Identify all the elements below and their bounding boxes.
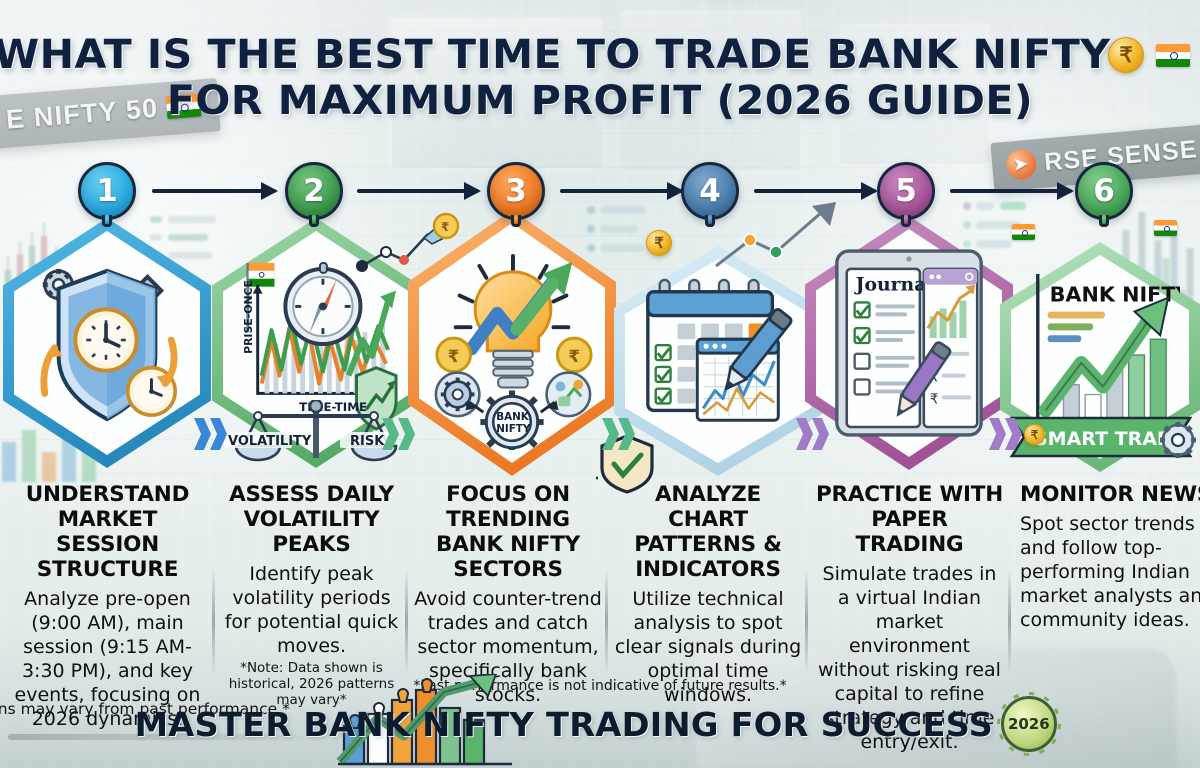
step3-gear-label-line1: BANK bbox=[496, 411, 530, 423]
step-number-1: 1 bbox=[78, 162, 136, 220]
tablet-journal-checklist-icon: Journal bbox=[825, 242, 993, 444]
journal-title: Journal bbox=[854, 274, 934, 296]
step-number-3: 3 bbox=[487, 162, 545, 220]
caption-divider bbox=[1008, 568, 1011, 674]
caption-heading-2: ASSESS DAILY VOLATILITY PEAKS bbox=[221, 482, 402, 557]
caption-heading-5: PRACTICE WITH PAPER TRADING bbox=[814, 482, 1005, 557]
rupee-coin-icon: ₹ bbox=[1108, 37, 1144, 73]
step3-gear-label-line2: NIFTY bbox=[496, 423, 531, 435]
svg-text:₹: ₹ bbox=[448, 346, 460, 366]
chevron-separator-2 bbox=[381, 410, 425, 458]
india-flag-icon bbox=[1012, 224, 1035, 240]
infographic-canvas: E NIFTY 50 ➤ RSE SENSE WHAT IS THE BEST … bbox=[0, 0, 1200, 768]
footer-banner-text: MASTER BANK NIFTY TRADING FOR SUCCESS bbox=[135, 705, 993, 744]
flow-arrow-1-2 bbox=[152, 189, 276, 193]
chevron-separator-4 bbox=[795, 410, 839, 458]
caption-heading-4: ANALYZE CHART PATTERNS & INDICATORS bbox=[614, 482, 802, 582]
scale-label-volatility: VOLATILITY bbox=[228, 434, 312, 449]
svg-text:₹: ₹ bbox=[568, 346, 580, 366]
step-number-4: 4 bbox=[681, 162, 739, 220]
caption-heading-1: UNDERSTAND MARKET SESSION STRUCTURE bbox=[6, 482, 209, 582]
caption-heading-6: MONITOR NEWS & FOLLOW LEADERS bbox=[1020, 482, 1200, 507]
svg-text:₹: ₹ bbox=[930, 391, 939, 407]
caption-divider bbox=[405, 568, 408, 674]
flow-arrow-2-3 bbox=[357, 189, 479, 193]
shield-clock-gears-icon bbox=[23, 244, 191, 442]
year-badge-2026: 2026 bbox=[1001, 696, 1057, 752]
step2-y-axis-label: PRISE-ONCE bbox=[242, 280, 255, 354]
gear-icon bbox=[1156, 414, 1200, 468]
page-title: WHAT IS THE BEST TIME TO TRADE BANK NIFT… bbox=[0, 32, 1200, 124]
calendar-checklist-chart-pen-icon bbox=[634, 272, 802, 450]
flow-arrow-5-6 bbox=[950, 189, 1072, 193]
footer-banner: MASTER BANK NIFTY TRADING FOR SUCCESS 20… bbox=[0, 696, 1200, 752]
caption-heading-3: FOCUS ON TRENDING BANK NIFTY SECTORS bbox=[414, 482, 602, 582]
step-card-1[interactable] bbox=[3, 218, 211, 468]
step-icon-row: PRISE-ONCE TIME-TIME VOLATILITY RISK bbox=[0, 218, 1200, 468]
flow-arrow-4-5 bbox=[754, 189, 876, 193]
title-line-2: FOR MAXIMUM PROFIT (2026 GUIDE) bbox=[0, 78, 1200, 124]
step-number-2: 2 bbox=[285, 162, 343, 220]
title-line-1: WHAT IS THE BEST TIME TO TRADE BANK NIFT… bbox=[0, 32, 1110, 78]
footer-disclaimer-center: *Past performance is not indicative of f… bbox=[0, 678, 1200, 694]
step-number-6: 6 bbox=[1075, 162, 1133, 220]
step-number-rail: 1 2 3 4 5 6 bbox=[0, 162, 1200, 224]
chevron-separator-5 bbox=[988, 410, 1032, 458]
caption-divider bbox=[605, 568, 608, 674]
footer: *Past performance is not indicative of f… bbox=[0, 672, 1200, 768]
flow-arrow-3-4 bbox=[560, 189, 682, 193]
caption-body-2: Identify peak volatility periods for pot… bbox=[221, 562, 402, 658]
caption-divider bbox=[805, 568, 808, 674]
chevron-separator-3 bbox=[601, 410, 645, 458]
india-flag-icon bbox=[1156, 44, 1190, 67]
rupee-coin-icon: ₹ bbox=[646, 230, 672, 256]
scale-label-risk: RISK bbox=[350, 434, 385, 449]
step-card-4[interactable] bbox=[614, 246, 822, 476]
step-number-5: 5 bbox=[877, 162, 935, 220]
caption-divider bbox=[212, 568, 215, 674]
chevron-separator-1 bbox=[193, 410, 237, 458]
caption-body-6: Spot sector trends and follow top-perfor… bbox=[1020, 512, 1200, 632]
